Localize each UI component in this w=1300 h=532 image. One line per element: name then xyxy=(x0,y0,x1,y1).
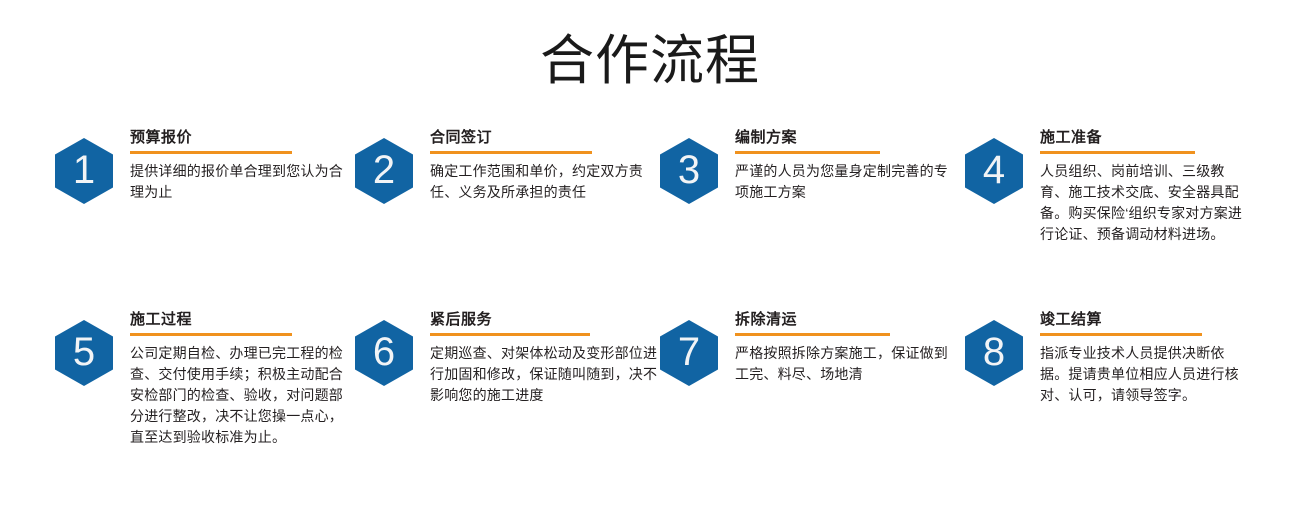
step-heading: 预算报价 xyxy=(130,128,355,148)
step-text-block: 竣工结算指派专业技术人员提供决断依据。提请贵单位相应人员进行核对、认可，请领导签… xyxy=(1040,310,1245,406)
step-number-label: 4 xyxy=(983,150,1005,192)
step-number-label: 7 xyxy=(678,332,700,374)
step-number-label: 2 xyxy=(373,150,395,192)
step-text-block: 拆除清运严格按照拆除方案施工，保证做到工完、料尽、场地清 xyxy=(735,310,950,385)
step-heading: 竣工结算 xyxy=(1040,310,1245,330)
step-description: 严谨的人员为您量身定制完善的专项施工方案 xyxy=(735,161,950,203)
step-heading: 施工过程 xyxy=(130,310,355,330)
step-heading-underline xyxy=(130,151,292,154)
step-description: 确定工作范围和单价，约定双方责任、义务及所承担的责任 xyxy=(430,161,665,203)
step-text-block: 施工过程公司定期自检、办理已完工程的检查、交付使用手续；积极主动配合安检部门的检… xyxy=(130,310,355,448)
step-heading-underline xyxy=(1040,333,1202,336)
step-heading-underline xyxy=(735,151,880,154)
step-heading: 施工准备 xyxy=(1040,128,1245,148)
step-number-hexagon: 8 xyxy=(965,320,1023,386)
step-number-label: 6 xyxy=(373,332,395,374)
step-number-label: 8 xyxy=(983,332,1005,374)
step-number-hexagon: 2 xyxy=(355,138,413,204)
step-text-block: 预算报价提供详细的报价单合理到您认为合理为止 xyxy=(130,128,355,203)
step-text-block: 编制方案严谨的人员为您量身定制完善的专项施工方案 xyxy=(735,128,950,203)
step-number-hexagon: 7 xyxy=(660,320,718,386)
step-text-block: 紧后服务定期巡查、对架体松动及变形部位进行加固和修改，保证随叫随到，决不影响您的… xyxy=(430,310,665,406)
page-title: 合作流程 xyxy=(0,28,1300,94)
step-description: 公司定期自检、办理已完工程的检查、交付使用手续；积极主动配合安检部门的检查、验收… xyxy=(130,343,355,448)
step-heading-underline xyxy=(1040,151,1195,154)
step-heading: 拆除清运 xyxy=(735,310,950,330)
step-number-hexagon: 1 xyxy=(55,138,113,204)
step-heading-underline xyxy=(430,333,590,336)
step-description: 定期巡查、对架体松动及变形部位进行加固和修改，保证随叫随到，决不影响您的施工进度 xyxy=(430,343,665,406)
step-text-block: 合同签订确定工作范围和单价，约定双方责任、义务及所承担的责任 xyxy=(430,128,665,203)
step-number-hexagon: 6 xyxy=(355,320,413,386)
step-heading: 合同签订 xyxy=(430,128,665,148)
step-text-block: 施工准备人员组织、岗前培训、三级教育、施工技术交底、安全器具配备。购买保险‘组织… xyxy=(1040,128,1245,245)
step-heading: 紧后服务 xyxy=(430,310,665,330)
step-description: 提供详细的报价单合理到您认为合理为止 xyxy=(130,161,355,203)
step-description: 严格按照拆除方案施工，保证做到工完、料尽、场地清 xyxy=(735,343,950,385)
step-number-hexagon: 5 xyxy=(55,320,113,386)
step-description: 指派专业技术人员提供决断依据。提请贵单位相应人员进行核对、认可，请领导签字。 xyxy=(1040,343,1245,406)
step-heading: 编制方案 xyxy=(735,128,950,148)
step-description: 人员组织、岗前培训、三级教育、施工技术交底、安全器具配备。购买保险‘组织专家对方… xyxy=(1040,161,1245,245)
step-heading-underline xyxy=(430,151,592,154)
step-number-label: 5 xyxy=(73,332,95,374)
step-number-hexagon: 4 xyxy=(965,138,1023,204)
step-number-hexagon: 3 xyxy=(660,138,718,204)
step-heading-underline xyxy=(130,333,292,336)
step-number-label: 3 xyxy=(678,150,700,192)
step-heading-underline xyxy=(735,333,890,336)
step-number-label: 1 xyxy=(73,150,95,192)
